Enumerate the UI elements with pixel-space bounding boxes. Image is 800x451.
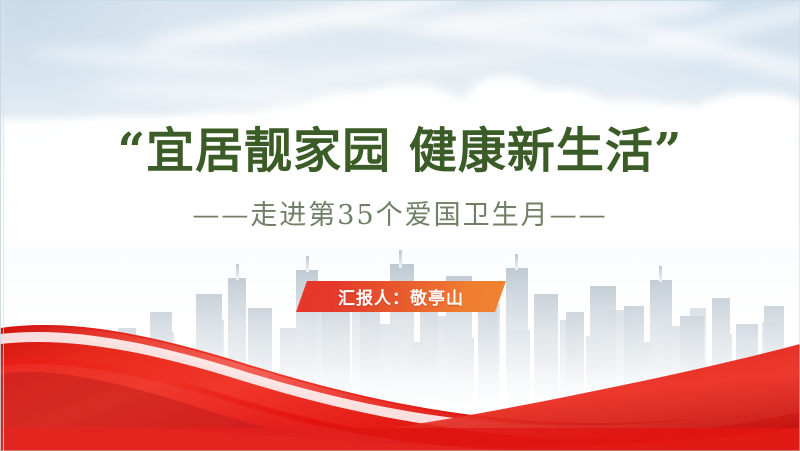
page-title: “宜居靓家园 健康新生活” xyxy=(0,120,800,182)
red-ribbon-waves xyxy=(0,300,800,451)
page-subtitle: ——走进第35个爱国卫生月—— xyxy=(0,198,800,234)
presentation-cover-slide: “宜居靓家园 健康新生活” ——走进第35个爱国卫生月—— 汇报人：敬亭山 xyxy=(0,0,800,451)
